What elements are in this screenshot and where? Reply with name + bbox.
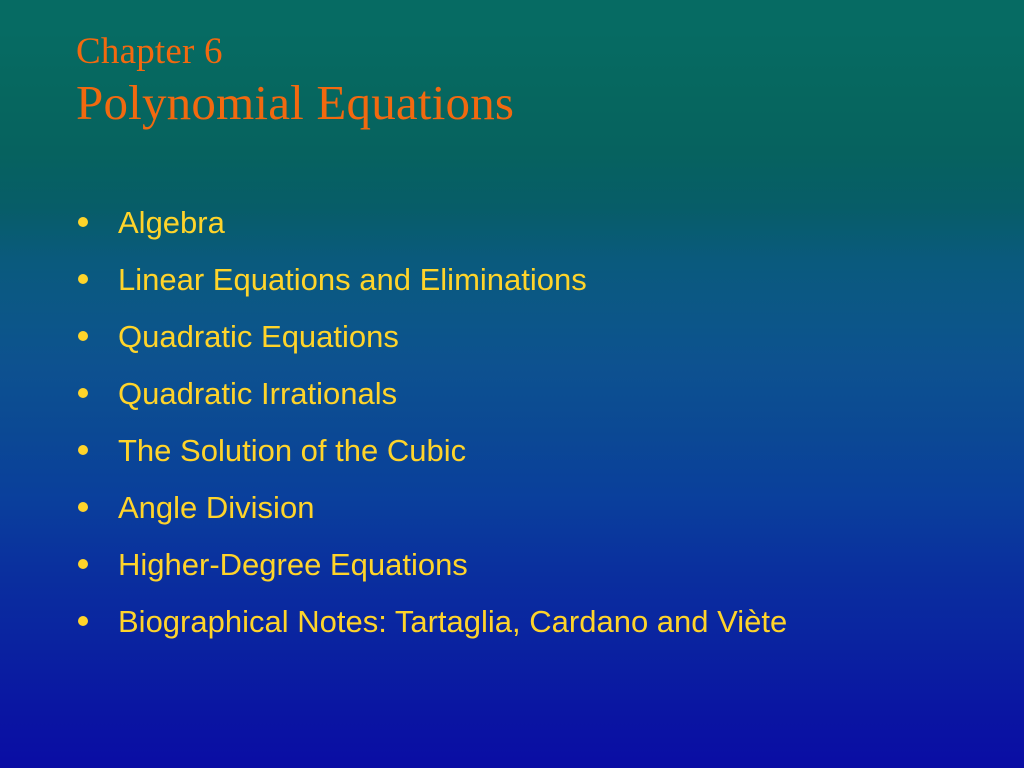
list-item-label: Linear Equations and Eliminations [118, 262, 587, 297]
chapter-label: Chapter 6 [76, 30, 956, 74]
bullet-dot-icon [78, 502, 88, 512]
page-title: Polynomial Equations [76, 75, 956, 131]
list-item-label: Quadratic Irrationals [118, 376, 397, 411]
list-item: Angle Division [72, 479, 952, 536]
bullet-dot-icon [78, 274, 88, 284]
slide-title-block: Chapter 6 Polynomial Equations [76, 30, 956, 131]
bullet-dot-icon [78, 445, 88, 455]
list-item: Quadratic Irrationals [72, 365, 952, 422]
bullet-dot-icon [78, 217, 88, 227]
list-item-label: The Solution of the Cubic [118, 433, 466, 468]
list-item: The Solution of the Cubic [72, 422, 952, 479]
list-item-label: Quadratic Equations [118, 319, 399, 354]
list-item: Quadratic Equations [72, 308, 952, 365]
list-item-label: Angle Division [118, 490, 314, 525]
list-item-label: Algebra [118, 205, 225, 240]
topic-list: Algebra Linear Equations and Elimination… [72, 194, 952, 650]
list-item: Higher-Degree Equations [72, 536, 952, 593]
list-item: Biographical Notes: Tartaglia, Cardano a… [72, 593, 918, 650]
bullet-dot-icon [78, 559, 88, 569]
bullet-dot-icon [78, 331, 88, 341]
list-item-label: Higher-Degree Equations [118, 547, 468, 582]
list-item-label: Biographical Notes: Tartaglia, Cardano a… [118, 604, 787, 639]
list-item: Algebra [72, 194, 952, 251]
presentation-slide: Chapter 6 Polynomial Equations Algebra L… [0, 0, 1024, 768]
list-item: Linear Equations and Eliminations [72, 251, 952, 308]
bullet-dot-icon [78, 388, 88, 398]
bullet-dot-icon [78, 616, 88, 626]
